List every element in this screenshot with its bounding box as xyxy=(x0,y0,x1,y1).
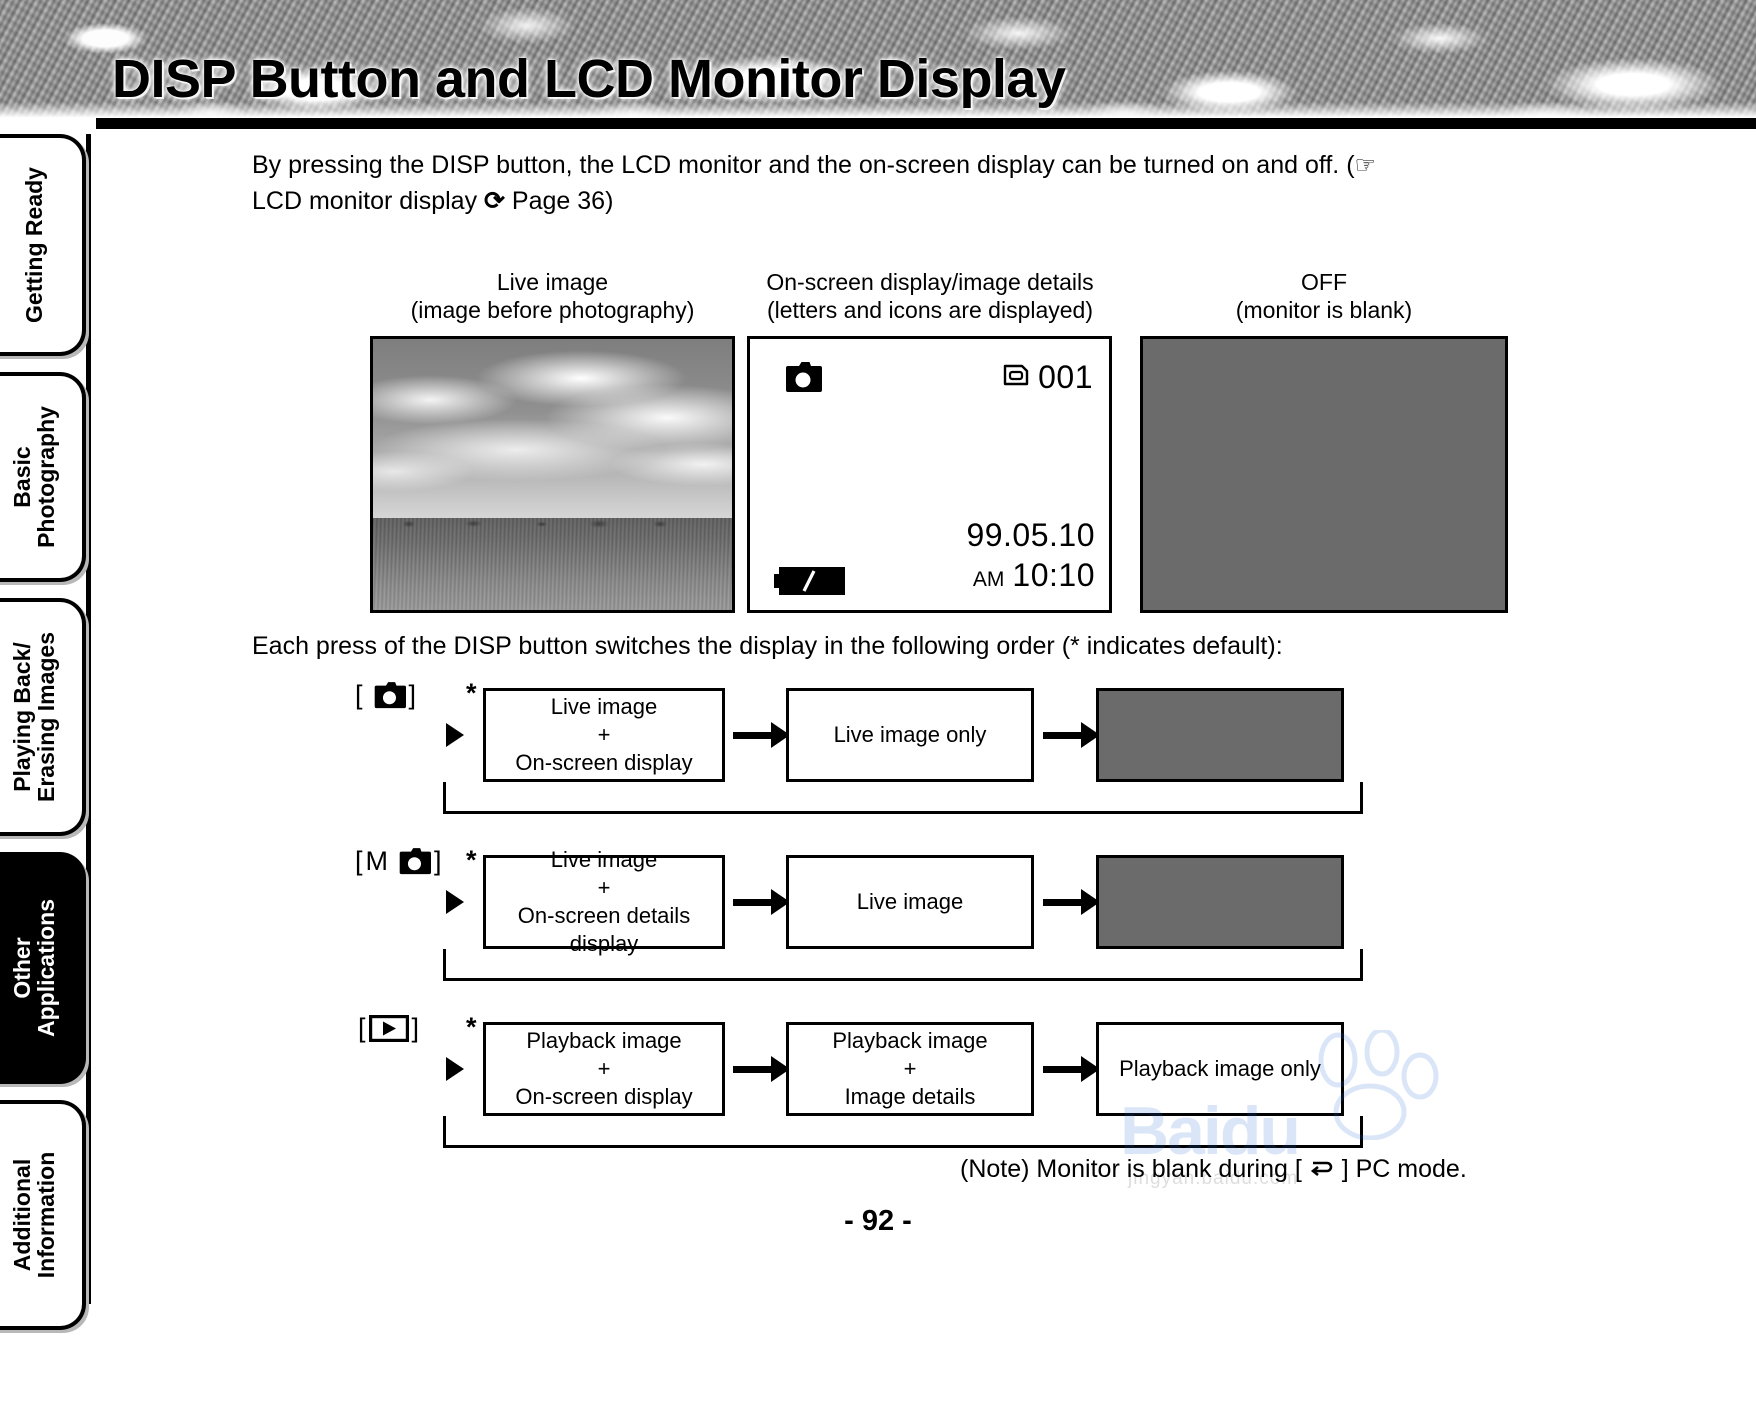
mode-label-record: [ ] xyxy=(355,680,416,711)
panel-caption-line2: (letters and icons are displayed) xyxy=(740,296,1120,324)
frame-counter-group: 001 xyxy=(1003,359,1093,396)
header-rule xyxy=(96,118,1756,129)
footer-note-before: (Note) Monitor is blank during [ xyxy=(960,1155,1309,1183)
page-title: DISP Button and LCD Monitor Display xyxy=(112,48,1066,110)
flow-loop-back xyxy=(443,949,1363,981)
panel-caption-line2: (image before photography) xyxy=(370,296,735,324)
flow-arrow xyxy=(1043,889,1100,915)
bracket-close: ] xyxy=(412,1013,420,1044)
mode-label-playback: [ ] xyxy=(358,1013,419,1044)
flow-box: Live image only xyxy=(786,688,1034,782)
sidebar-item-basic-photography[interactable]: Basic Photography xyxy=(0,372,86,582)
screen-onscreen-display: 001 99.05.10 AM 10:10 xyxy=(747,336,1112,613)
flow-loop-arrowhead xyxy=(446,890,464,914)
bracket-close: ] xyxy=(434,846,442,877)
flow-loop-back xyxy=(443,782,1363,814)
flow-box: Playback image + Image details xyxy=(786,1022,1034,1116)
sidebar-item-other-applications[interactable]: Other Applications xyxy=(0,852,86,1084)
page-number: - 92 - xyxy=(0,1205,1756,1238)
camera-icon xyxy=(776,361,822,400)
panel-caption-line1: Live image xyxy=(370,268,735,296)
camera-icon xyxy=(391,847,431,877)
flow-arrow xyxy=(1043,722,1100,748)
memory-card-icon xyxy=(1003,364,1029,391)
playback-icon xyxy=(369,1015,409,1042)
intro-page-ref: Page 36) xyxy=(505,187,613,215)
frame-count-value: 001 xyxy=(1038,359,1093,396)
flow-box: Playback image only xyxy=(1096,1022,1344,1116)
manual-page: DISP Button and LCD Monitor Display Gett… xyxy=(0,0,1756,1416)
intro-line1-text: By pressing the DISP button, the LCD mon… xyxy=(252,151,1355,179)
flow-box-blank xyxy=(1096,688,1344,782)
default-marker: * xyxy=(466,1012,477,1043)
default-marker: * xyxy=(466,678,477,709)
sidebar-item-label: Basic Photography xyxy=(10,406,58,548)
flow-arrow xyxy=(733,1056,790,1082)
battery-icon xyxy=(774,567,846,600)
default-marker: * xyxy=(466,845,477,876)
sidebar-item-getting-ready[interactable]: Getting Ready xyxy=(0,134,86,356)
footer-note-after: ] PC mode. xyxy=(1335,1155,1467,1183)
flow-loop-back xyxy=(443,1116,1363,1148)
flow-arrow xyxy=(733,722,790,748)
panel-caption-live-image: Live image (image before photography) xyxy=(370,268,735,324)
osd-time-value: 10:10 xyxy=(1012,557,1095,594)
sidebar-item-playing-back-erasing-images[interactable]: Playing Back/ Erasing Images xyxy=(0,598,86,836)
flow-box: Live image + On-screen details display xyxy=(483,855,725,949)
photo-ground xyxy=(373,518,732,610)
flow-box: Live image + On-screen display xyxy=(483,688,725,782)
flow-arrow xyxy=(1043,1056,1100,1082)
sidebar-item-label: Getting Ready xyxy=(22,167,46,323)
flow-intro-text: Each press of the DISP button switches t… xyxy=(252,632,1283,661)
bracket-open: [ xyxy=(355,680,363,711)
photo-sky xyxy=(373,339,732,518)
sidebar-item-label: Other Applications xyxy=(10,899,58,1037)
osd-ampm-value: AM xyxy=(973,568,1005,592)
footer-note: (Note) Monitor is blank during [ ] PC mo… xyxy=(960,1155,1467,1184)
bracket-open: [ xyxy=(355,846,363,877)
flow-arrow xyxy=(733,889,790,915)
panel-caption-onscreen-display: On-screen display/image details (letters… xyxy=(740,268,1120,324)
flow-box: Playback image + On-screen display xyxy=(483,1022,725,1116)
osd-time-group: AM 10:10 xyxy=(973,557,1095,594)
panel-caption-line1: On-screen display/image details xyxy=(740,268,1120,296)
flow-loop-arrowhead xyxy=(446,1057,464,1081)
panel-caption-line2: (monitor is blank) xyxy=(1140,296,1508,324)
bracket-open: [ xyxy=(358,1013,366,1044)
loop-arrow-icon: ⟳ xyxy=(484,187,505,215)
sidebar-item-label: Playing Back/ Erasing Images xyxy=(10,632,58,802)
pc-mode-icon xyxy=(1309,1158,1335,1182)
camera-icon xyxy=(366,681,406,711)
flow-box: Live image xyxy=(786,855,1034,949)
bracket-close: ] xyxy=(409,680,417,711)
screen-off-blank xyxy=(1140,336,1508,613)
panel-caption-line1: OFF xyxy=(1140,268,1508,296)
intro-line2-text: LCD monitor display xyxy=(252,187,484,215)
osd-date-value: 99.05.10 xyxy=(966,517,1095,554)
flow-box-blank xyxy=(1096,855,1344,949)
panel-caption-off: OFF (monitor is blank) xyxy=(1140,268,1508,324)
pointing-hand-icon: ☞ xyxy=(1355,152,1377,179)
mode-prefix-m: M xyxy=(366,846,389,877)
screen-live-image xyxy=(370,336,735,613)
sidebar-tabs: Getting Ready Basic Photography Playing … xyxy=(0,134,88,1264)
intro-paragraph: By pressing the DISP button, the LCD mon… xyxy=(252,148,1552,219)
flow-loop-arrowhead xyxy=(446,723,464,747)
mode-label-manual: [ M ] xyxy=(355,846,442,877)
